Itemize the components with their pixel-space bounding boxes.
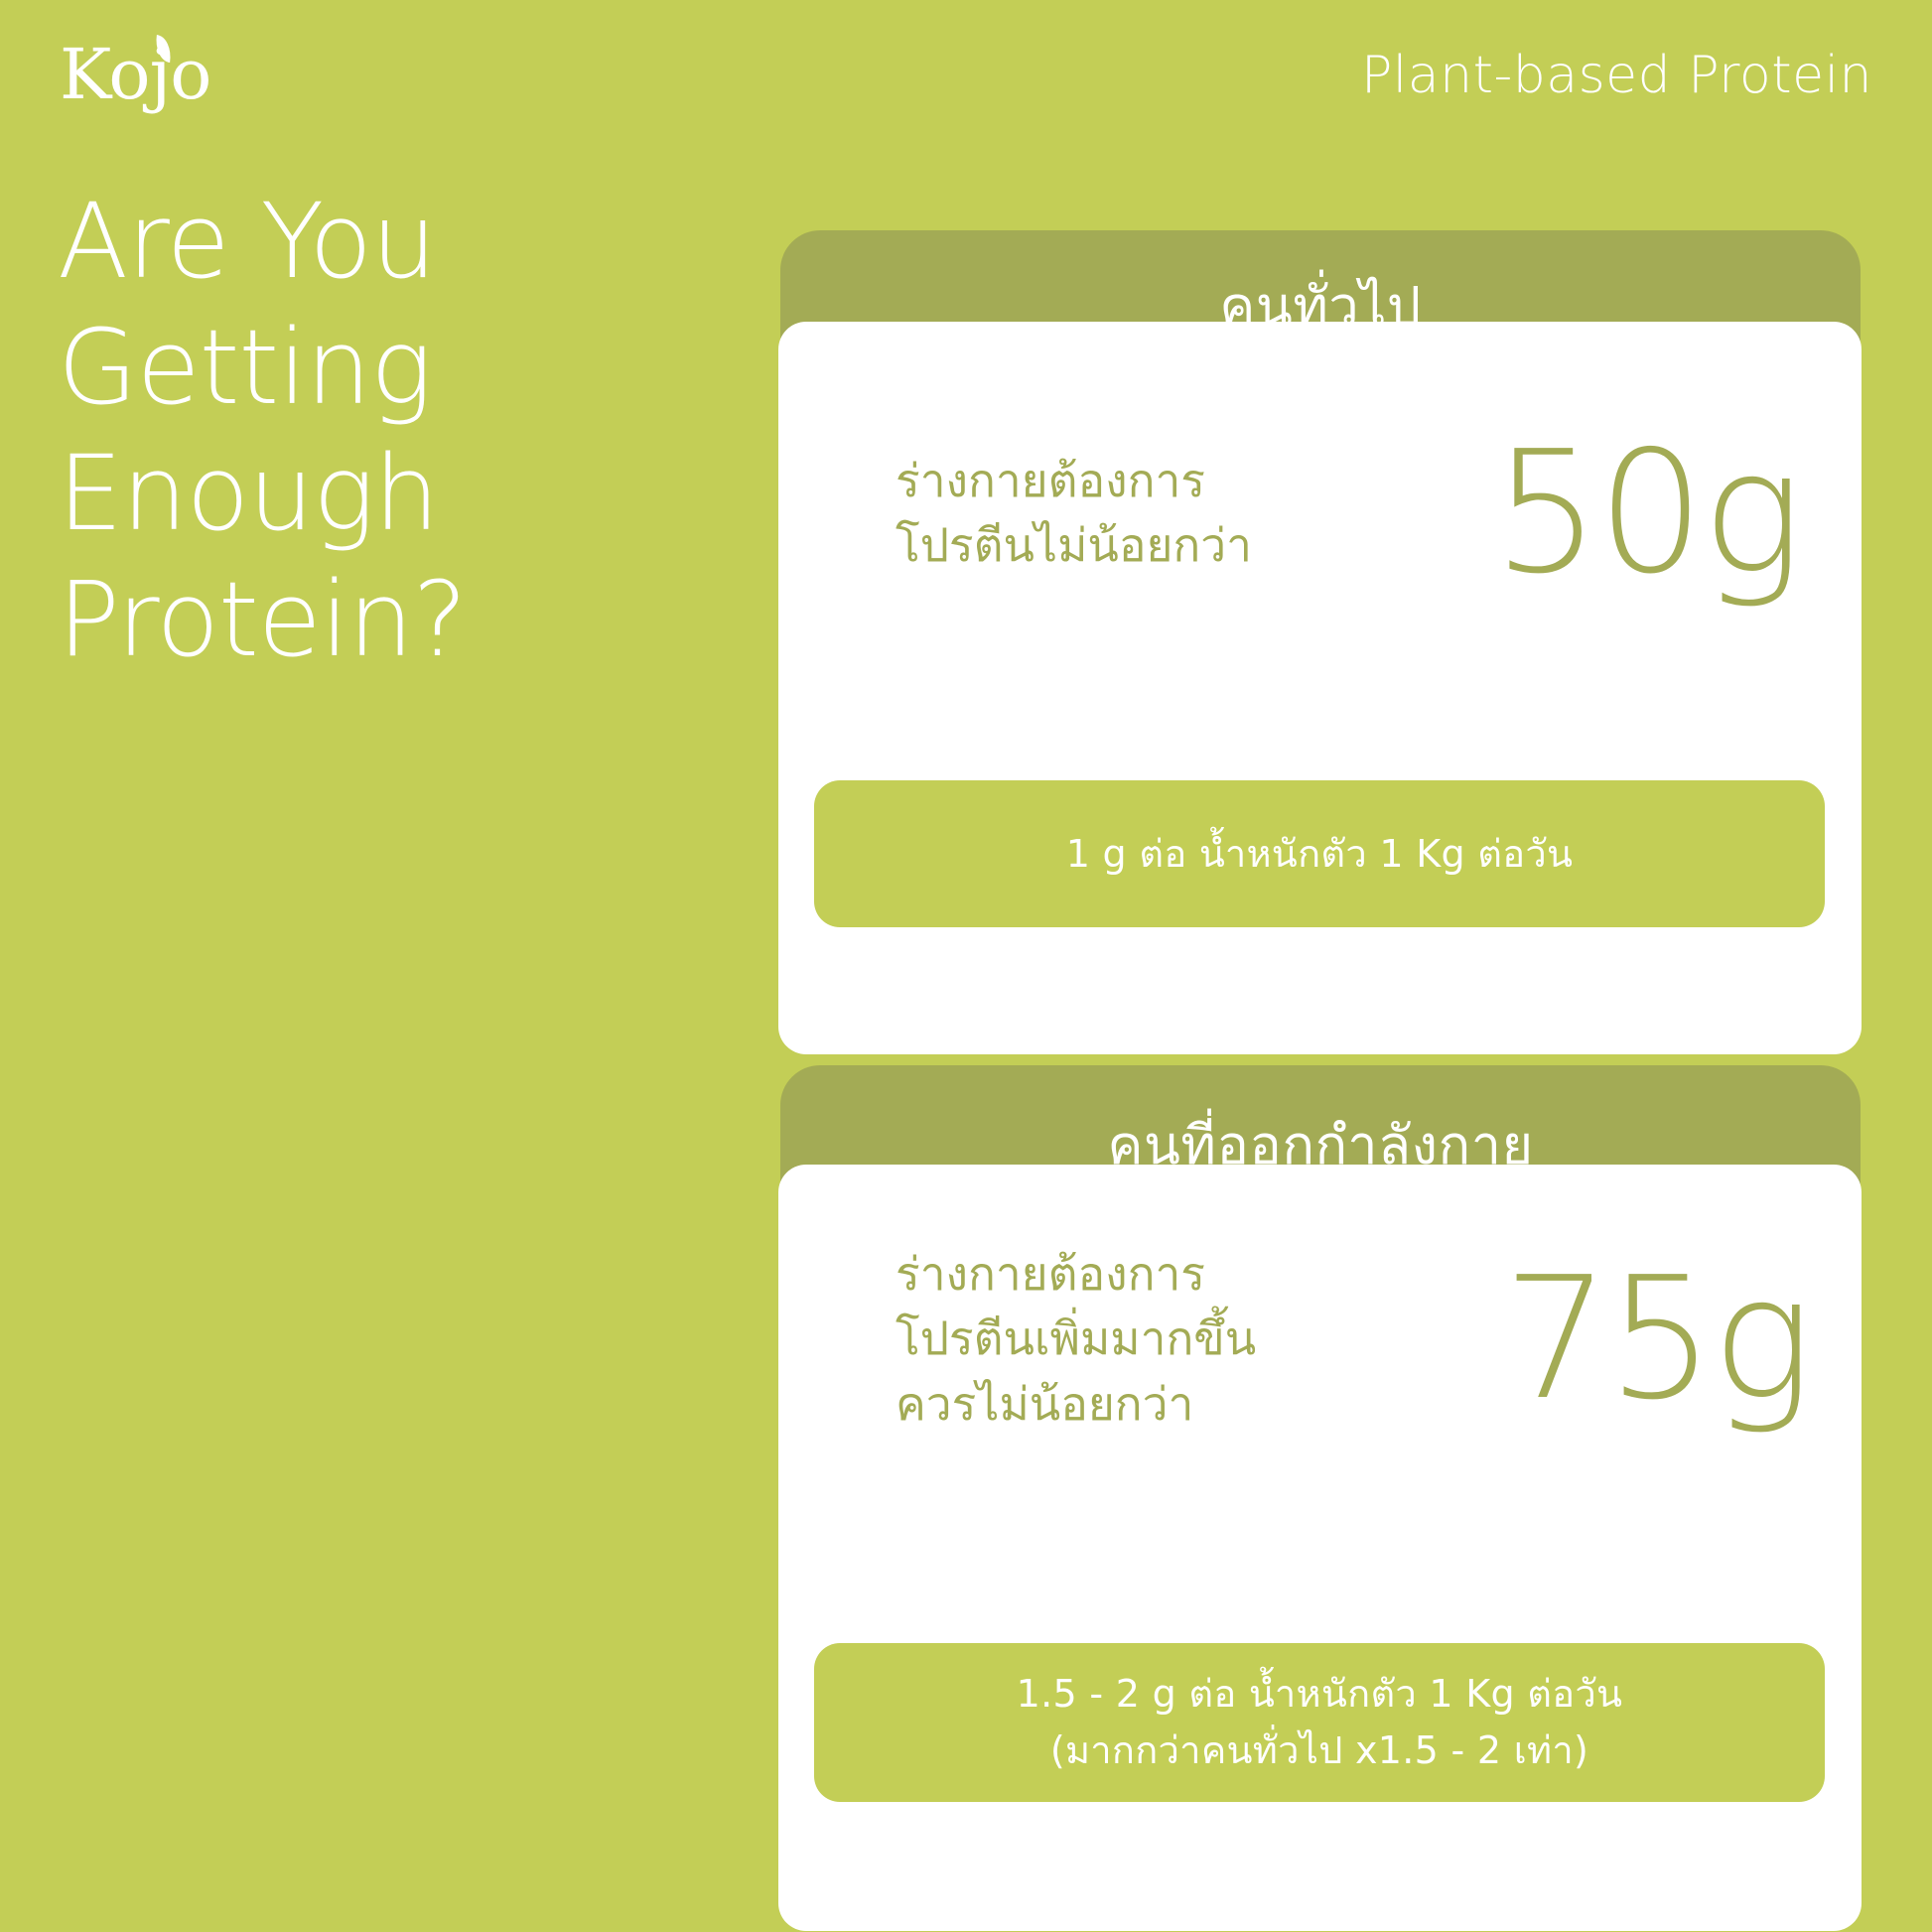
infographic-page: Kojo Plant-based Protein Are You Getting… [0,0,1932,1932]
page-title: Are You Getting Enough Protein? [58,179,467,683]
card-active-description-line-1: ร่างกายต้องการ [896,1242,1256,1307]
leaf-accent-icon: j [150,40,171,109]
card-active-description-line-3: ควรไม่น้อยกว่า [896,1372,1256,1437]
headline-line-2: Getting [58,305,467,431]
card-active-pill: 1.5 - 2 g ต่อ น้ำหนักตัว 1 Kg ต่อวัน (มา… [814,1643,1825,1802]
card-active-people: คนที่ออกกำลังกาย ร่างกายต้องการ โปรตีนเพ… [778,1065,1862,1931]
headline-line-4: Protein? [58,557,467,683]
headline-line-1: Are You [58,179,467,305]
card-general-stat-row: ร่างกายต้องการ โปรตีนไม่น้อยกว่า 50g [778,429,1862,598]
headline-line-3: Enough [58,431,467,557]
card-active-pill-line-2: (มากกว่าคนทั่วไป x1.5 - 2 เท่า) [1050,1723,1588,1779]
card-active-description: ร่างกายต้องการ โปรตีนเพิ่มมากขึ้น ควรไม่… [896,1242,1256,1437]
card-general-pill: 1 g ต่อ น้ำหนักตัว 1 Kg ต่อวัน [814,780,1825,927]
brand-logo: Kojo [60,40,210,109]
card-active-pill-line-1: 1.5 - 2 g ต่อ น้ำหนักตัว 1 Kg ต่อวัน [1017,1666,1623,1723]
card-active-stat-row: ร่างกายต้องการ โปรตีนเพิ่มมากขึ้น ควรไม่… [778,1242,1862,1437]
card-active-description-line-2: โปรตีนเพิ่มมากขึ้น [896,1307,1256,1371]
card-active-value: 75g [1503,1255,1810,1424]
card-general-description: ร่างกายต้องการ โปรตีนไม่น้อยกว่า [896,449,1252,579]
brand-tagline: Plant-based Protein [1361,48,1872,104]
card-general-people: คนทั่วไป ร่างกายต้องการ โปรตีนไม่น้อยกว่… [778,230,1862,1054]
card-general-value: 50g [1493,429,1800,598]
card-general-pill-line-1: 1 g ต่อ น้ำหนักตัว 1 Kg ต่อวัน [1066,826,1574,883]
card-general-description-line-2: โปรตีนไม่น้อยกว่า [896,513,1252,578]
card-general-description-line-1: ร่างกายต้องการ [896,449,1252,513]
